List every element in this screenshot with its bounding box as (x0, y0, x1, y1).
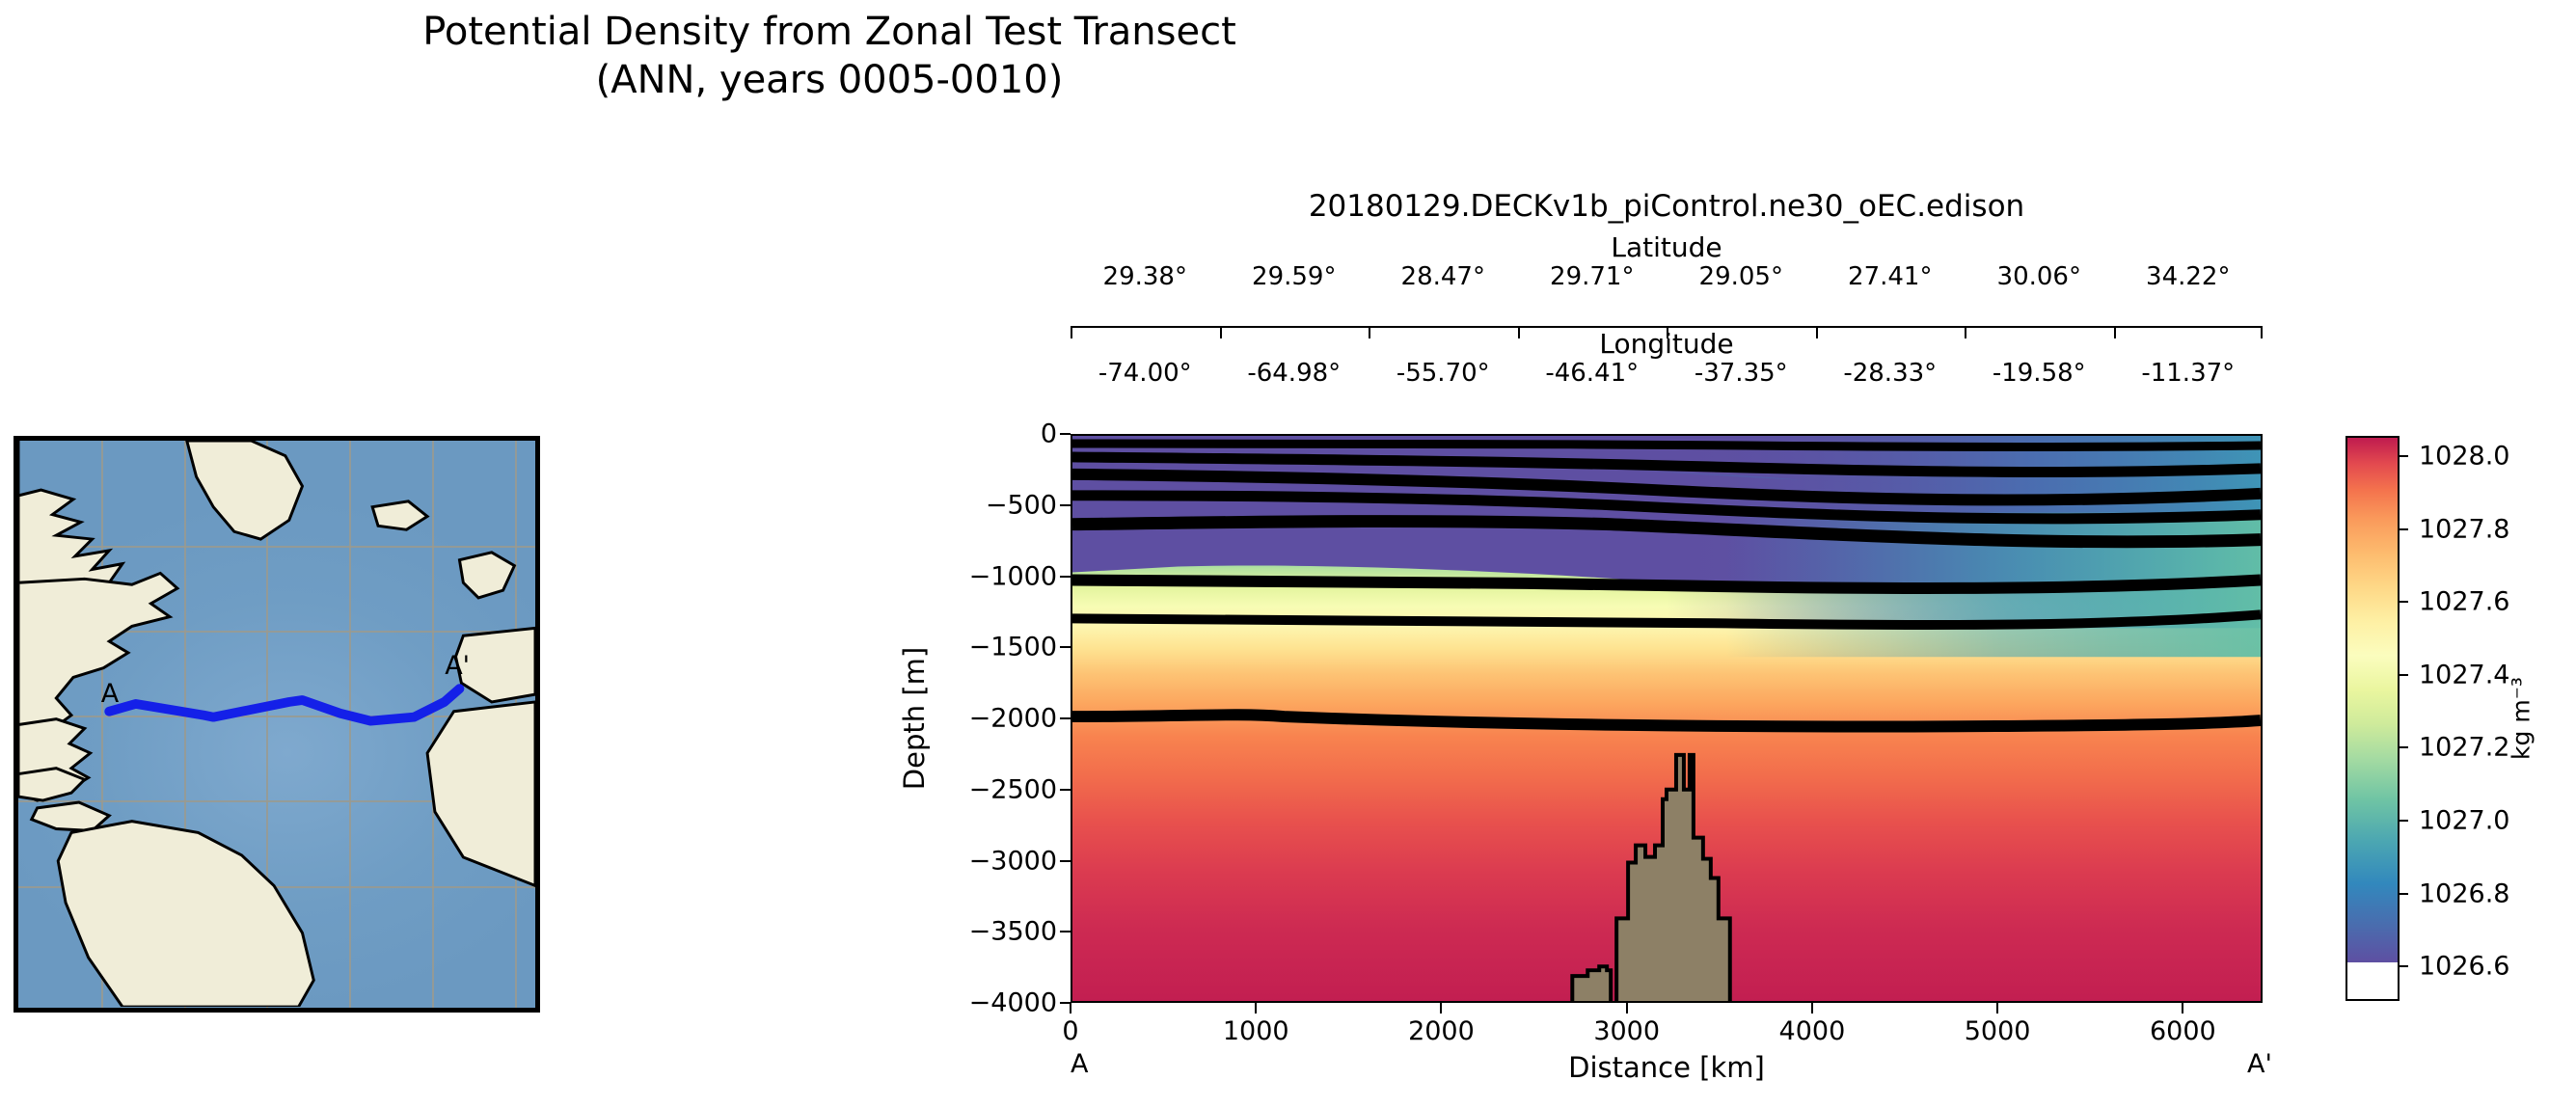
axis-tick-label: 30.06° (1997, 262, 2081, 291)
x-axis-tick-label: 0 (1062, 1016, 1078, 1046)
x-axis-tick (1440, 1003, 1442, 1013)
colorbar: 1028.01027.81027.61027.41027.21027.01026… (2346, 436, 2400, 1001)
land-greenland (187, 441, 303, 539)
colorbar-tick (2398, 601, 2408, 603)
axis-tick-label: 27.41° (1848, 262, 1932, 291)
colorbar-tick (2398, 965, 2408, 967)
suptitle-line-2: (ANN, years 0005-0010) (0, 56, 1659, 104)
figure-suptitle: Potential Density from Zonal Test Transe… (0, 8, 1659, 104)
latitude-axis-name: Latitude (1071, 231, 2263, 263)
x-axis-tick (1255, 1003, 1257, 1013)
x-axis-tick-label: 5000 (1965, 1016, 2031, 1046)
transect-line (109, 689, 459, 720)
x-axis-tick-label: 6000 (2150, 1016, 2216, 1046)
land-africa (427, 702, 535, 885)
y-axis-tick (1060, 504, 1071, 506)
y-axis-tick-label: −500 (986, 490, 1057, 520)
axis-tick-label: 34.22° (2146, 262, 2230, 291)
y-axis-tick-label: −3500 (969, 917, 1057, 947)
transect-endpoint-a-prime: A' (2247, 1049, 2272, 1079)
latitude-tick-labels: 29.38°29.59°28.47°29.71°29.05°27.41°30.0… (964, 262, 2369, 289)
axis-tick-label: 29.05° (1699, 262, 1783, 291)
colorbar-tick-label: 1026.8 (2419, 878, 2509, 908)
axis-tick-label: -64.98° (1247, 359, 1341, 388)
map-frame: A A' (14, 436, 540, 1013)
axis-tick-label: -74.00° (1098, 359, 1192, 388)
y-axis-tick-label: −3000 (969, 846, 1057, 876)
colorbar-tick-label: 1026.6 (2419, 952, 2509, 982)
y-axis-tick (1060, 789, 1071, 791)
x-axis-tick-label: 3000 (1593, 1016, 1660, 1046)
axis-tick-label: 29.38° (1103, 262, 1187, 291)
transect-endpoint-a: A (1071, 1049, 1088, 1079)
y-axis-tick (1060, 717, 1071, 719)
land-iceland (372, 501, 427, 529)
suptitle-line-1: Potential Density from Zonal Test Transe… (0, 8, 1659, 56)
axis-tick-label: 29.59° (1252, 262, 1336, 291)
x-axis-label: Distance [km] (1071, 1051, 2263, 1084)
y-axis-tick-label: 0 (1041, 419, 1057, 449)
x-axis-tick-label: 1000 (1223, 1016, 1289, 1046)
axis-tick-label: -11.37° (2141, 359, 2235, 388)
plot-area (1071, 434, 2263, 1003)
y-axis-tick-label: −1000 (969, 561, 1057, 591)
colorbar-tick (2398, 746, 2408, 748)
x-axis-tick (1626, 1003, 1628, 1013)
potential-density-field (1072, 436, 2261, 1003)
y-axis-tick (1060, 576, 1071, 578)
colorbar-tick-label: 1027.8 (2419, 514, 2509, 544)
map-end-label: A' (445, 651, 470, 681)
y-axis-tick (1060, 860, 1071, 862)
y-axis-tick-label: −2000 (969, 704, 1057, 734)
land-south-america (58, 822, 313, 1007)
y-axis-tick-label: −2500 (969, 774, 1057, 804)
colorbar-tick (2398, 820, 2408, 822)
y-axis-tick (1060, 931, 1071, 932)
colorbar-tick-label: 1027.2 (2419, 733, 2509, 763)
land-british-isles (459, 553, 514, 598)
transect-location-map: A A' (14, 436, 540, 1013)
y-axis-tick (1060, 646, 1071, 648)
longitude-axis-name: Longitude (1071, 328, 2263, 360)
colorbar-tick (2398, 455, 2408, 457)
axis-tick-label: -55.70° (1396, 359, 1490, 388)
x-axis-tick-label: 2000 (1408, 1016, 1475, 1046)
axis-tick-label: -28.33° (1843, 359, 1937, 388)
x-axis-tick (1996, 1003, 1998, 1013)
longitude-tick-labels: -74.00°-64.98°-55.70°-46.41°-37.35°-28.3… (964, 359, 2369, 386)
x-axis-tick (1811, 1003, 1813, 1013)
y-axis-tick (1060, 433, 1071, 435)
colorbar-unit-label: kg m⁻³ (2508, 677, 2535, 760)
axes-title: 20180129.DECKv1b_piControl.ne30_oEC.edis… (1071, 189, 2263, 224)
x-axis-tick (1070, 1003, 1071, 1013)
axis-tick-label: 28.47° (1401, 262, 1485, 291)
axis-tick-label: -19.58° (1993, 359, 2086, 388)
colorbar-tick-label: 1027.6 (2419, 587, 2509, 617)
section-plot: 0−500−1000−1500−2000−2500−3000−3500−4000… (1071, 434, 2263, 1003)
x-axis-tick (2182, 1003, 2183, 1013)
colorbar-tick (2398, 893, 2408, 895)
y-axis-label: Depth [m] (898, 647, 931, 790)
colorbar-tick-label: 1027.0 (2419, 805, 2509, 835)
colorbar-tick-label: 1027.4 (2419, 660, 2509, 689)
y-axis-tick-label: −4000 (969, 988, 1057, 1018)
axis-tick-label: 29.71° (1550, 262, 1634, 291)
axis-tick-label: -46.41° (1545, 359, 1639, 388)
colorbar-tick-label: 1028.0 (2419, 441, 2509, 471)
map-start-label: A (101, 679, 119, 709)
x-axis-tick-label: 4000 (1779, 1016, 1846, 1046)
map-vector-layer (18, 441, 535, 1007)
colorbar-tick (2398, 674, 2408, 676)
colorbar-gradient (2347, 438, 2398, 962)
land-arctic-islands (18, 441, 122, 590)
y-axis-tick-label: −1500 (969, 633, 1057, 662)
axis-tick-label: -37.35° (1695, 359, 1788, 388)
colorbar-tick (2398, 528, 2408, 530)
